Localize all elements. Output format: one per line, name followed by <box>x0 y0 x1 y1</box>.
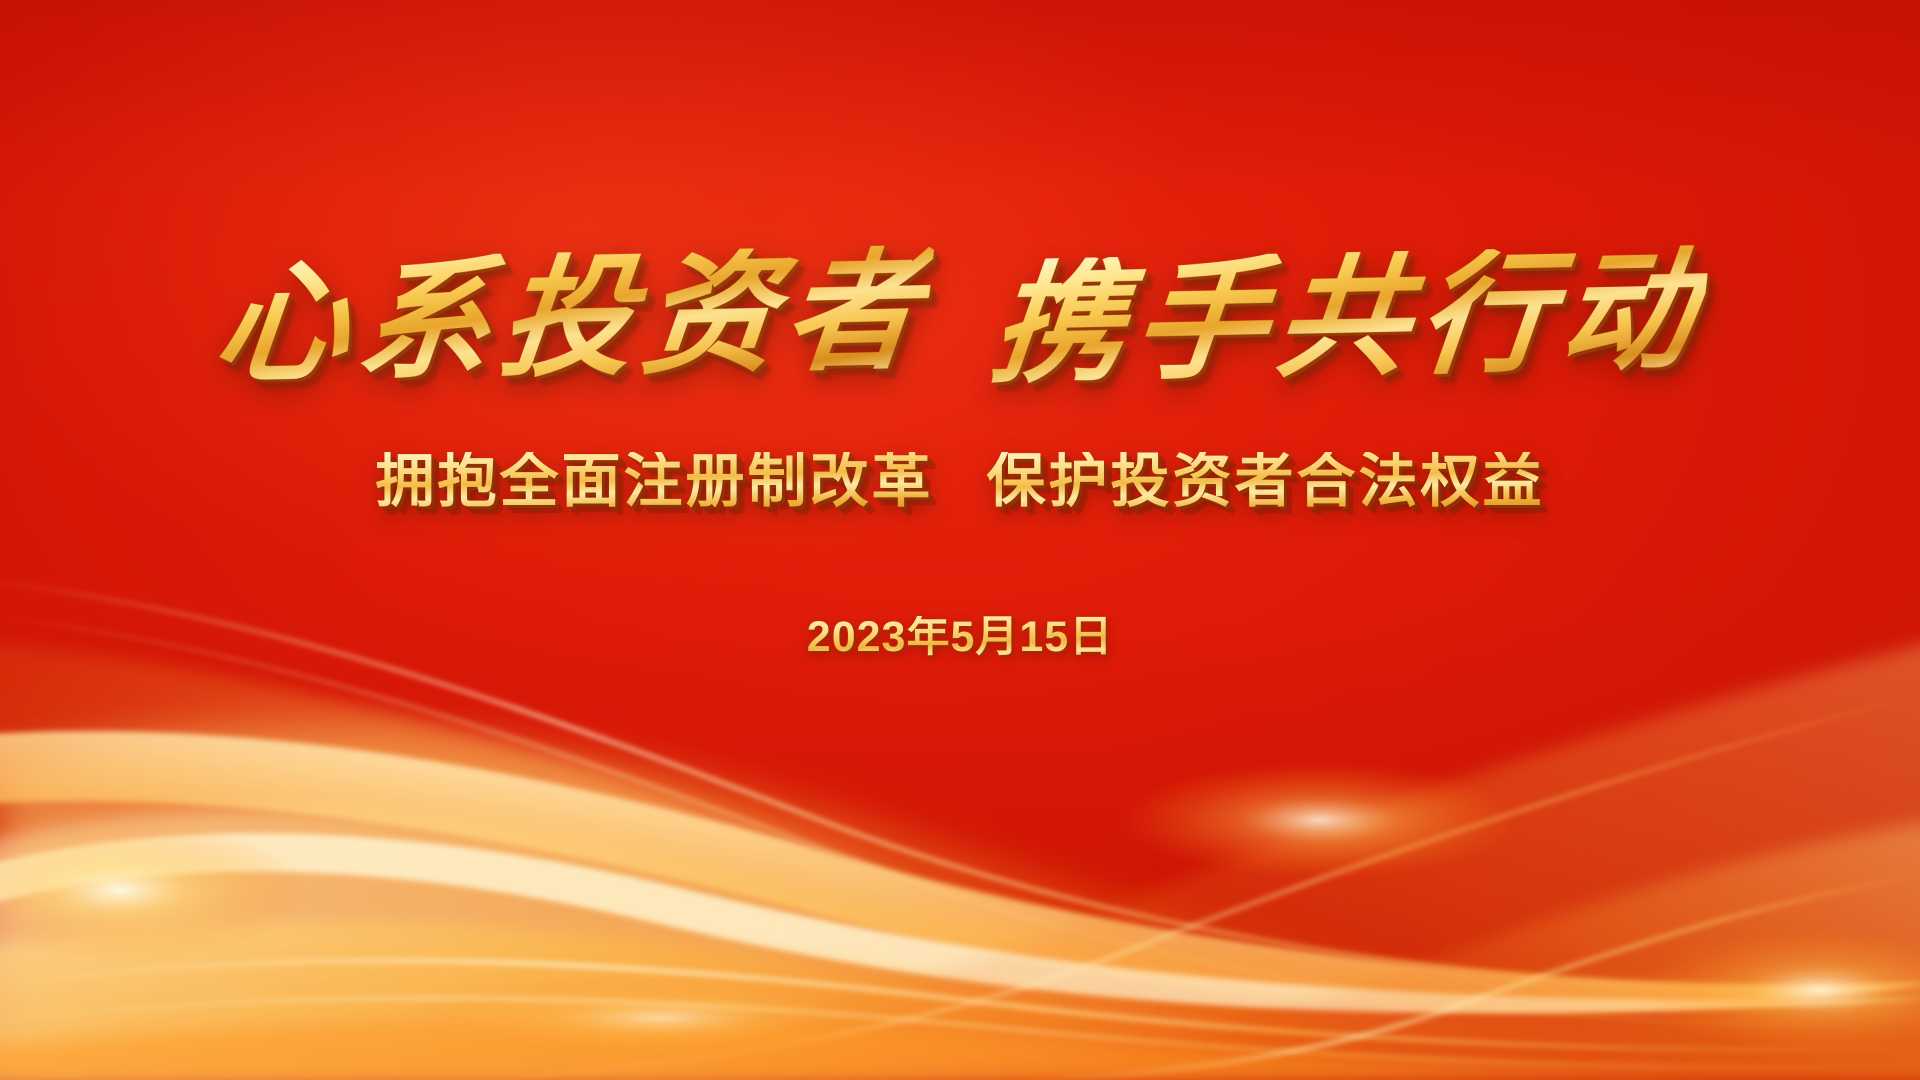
banner-canvas: 5·15全国投资者保护宣传日 心系投资者 携手共行动 拥抱全面注册制改革 保护投… <box>0 0 1920 1080</box>
event-date-line: 2023年5月15日 <box>0 616 1920 659</box>
event-date: 2023年5月15日 <box>807 616 1113 659</box>
subtitle-line: 拥抱全面注册制改革 保护投资者合法权益 <box>0 452 1920 511</box>
event-eyebrow-title: 5·15全国投资者保护宣传日 <box>185 141 708 184</box>
hero-title-part-1: 心系投资者 <box>209 245 934 392</box>
hero-title: 心系投资者 携手共行动 <box>0 252 1920 384</box>
subtitle-part-1: 拥抱全面注册制改革 <box>376 452 934 511</box>
hero-title-part-2: 携手共行动 <box>986 245 1711 392</box>
subtitle-part-2: 保护投资者合法权益 <box>986 452 1544 511</box>
wave-glow-center <box>1120 762 1520 878</box>
wave-graphic-svg <box>0 520 1920 1080</box>
wave-glow-bottom <box>400 974 920 1062</box>
wave-decoration <box>0 520 1920 1080</box>
